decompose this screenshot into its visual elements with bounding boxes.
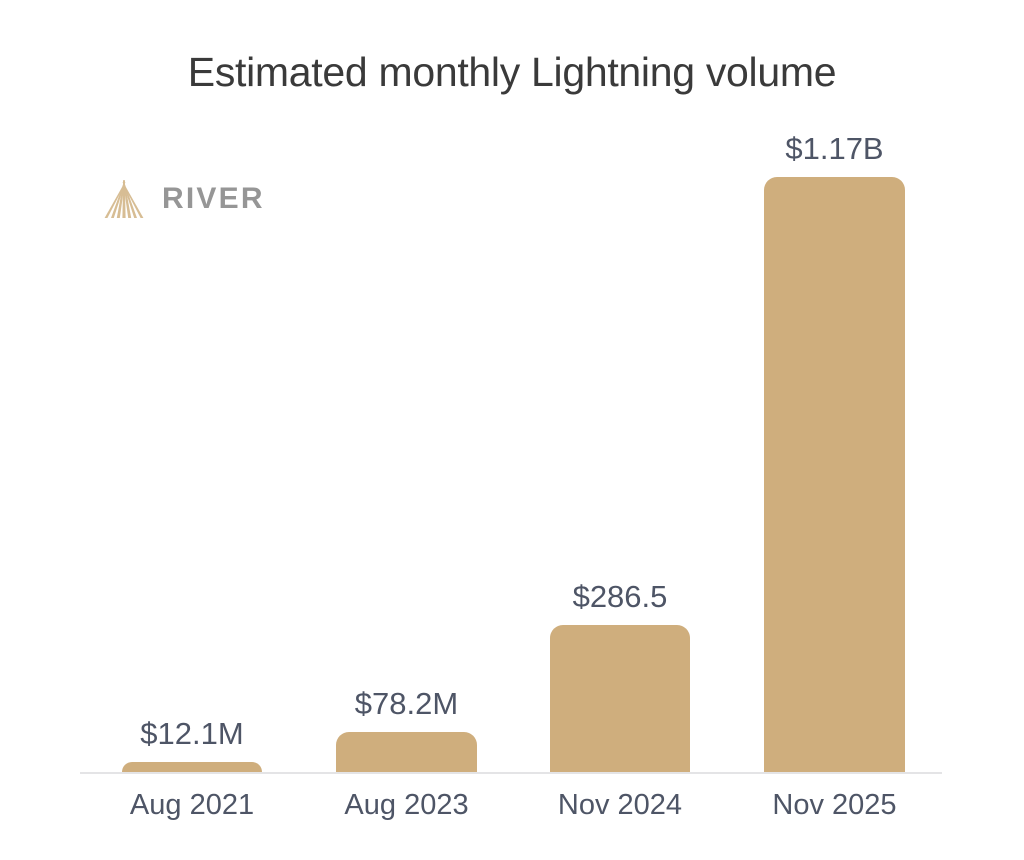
bar-rect[interactable] [550,625,690,772]
bar-value-label: $12.1M [122,716,262,752]
bar-category-label: Aug 2023 [322,787,491,823]
bar-rect[interactable] [336,732,477,772]
plot-area: $12.1M Aug 2021 $78.2M Aug 2023 $286.5 N… [0,0,1024,860]
bar-value-label: $78.2M [336,686,477,722]
bar-rect[interactable] [122,762,262,772]
bar-group: $286.5 Nov 2024 [550,625,690,772]
bar-value-label: $286.5 [550,579,690,615]
bar-rect[interactable] [764,177,905,772]
bar-category-label: Nov 2024 [536,787,704,823]
bar-group: $1.17B Nov 2025 [764,177,905,772]
chart-figure: Estimated monthly Lightning volume RIVER… [0,0,1024,860]
bar-group: $12.1M Aug 2021 [122,762,262,772]
bar-value-label: $1.17B [764,131,905,167]
x-axis-baseline [80,772,942,774]
bar-group: $78.2M Aug 2023 [336,732,477,772]
bar-category-label: Aug 2021 [108,787,276,823]
bar-category-label: Nov 2025 [750,787,919,823]
